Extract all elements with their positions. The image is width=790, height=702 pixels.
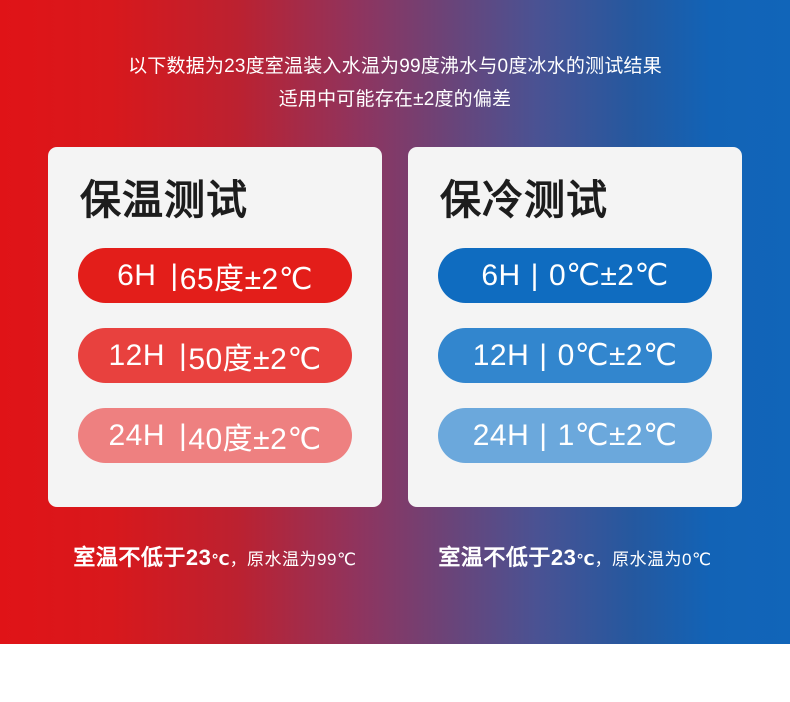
card-title-cold: 保冷测试 [440,172,712,228]
footer-note-cold: 室温不低于23℃，原水温为0℃ [408,540,742,572]
pill-list-heat: 6H | 65度±2℃ 12H | 50度±2℃ 24H | 40度±2℃ [78,248,352,463]
footer-notes-row: 室温不低于23℃，原水温为99℃ 室温不低于23℃，原水温为0℃ [48,540,742,572]
pill-value: 0℃±2℃ [558,338,678,373]
pill-value: 40度±2℃ [188,414,321,458]
pill-hours: 24H [473,419,530,453]
pill-hours: 24H [108,419,165,453]
pill-hours: 6H [117,259,156,293]
footer-strong: 室温不低于23 [73,545,211,570]
pill-separator: | [179,339,187,373]
pill-separator: | [179,419,187,453]
footer-rest: ，原水温为99℃ [230,550,357,569]
pill-heat-6h: 6H | 65度±2℃ [78,248,352,303]
headline-line-2: 适用中可能存在±2度的偏差 [0,83,790,116]
pill-cold-12h: 12H | 0℃±2℃ [438,328,712,383]
pill-cold-24h: 24H | 1℃±2℃ [438,408,712,463]
pill-separator: | [170,259,178,293]
pill-value: 0℃±2℃ [549,258,669,293]
pill-cold-6h: 6H | 0℃±2℃ [438,248,712,303]
pill-heat-24h: 24H | 40度±2℃ [78,408,352,463]
footer-strong: 室温不低于23 [438,545,576,570]
card-cold-retention: 保冷测试 6H | 0℃±2℃ 12H | 0℃±2℃ 24H | 1℃±2℃ [408,147,742,507]
pill-hours: 12H [108,339,165,373]
pill-value: 1℃±2℃ [558,418,678,453]
footer-unit: ℃ [211,552,229,569]
pill-separator: | [531,259,539,293]
pill-value: 50度±2℃ [188,334,321,378]
promo-banner: 以下数据为23度室温装入水温为99度沸水与0度冰水的测试结果 适用中可能存在±2… [0,0,790,644]
card-heat-retention: 保温测试 6H | 65度±2℃ 12H | 50度±2℃ 24H | 40度±… [48,147,382,507]
footer-unit: ℃ [576,552,594,569]
card-title-heat: 保温测试 [80,172,352,228]
pill-list-cold: 6H | 0℃±2℃ 12H | 0℃±2℃ 24H | 1℃±2℃ [438,248,712,463]
pill-separator: | [539,339,547,373]
footer-rest: ，原水温为0℃ [595,550,712,569]
pill-hours: 6H [481,259,520,293]
pill-heat-12h: 12H | 50度±2℃ [78,328,352,383]
test-cards-row: 保温测试 6H | 65度±2℃ 12H | 50度±2℃ 24H | 40度±… [48,147,742,507]
footer-note-heat: 室温不低于23℃，原水温为99℃ [48,540,382,572]
headline-block: 以下数据为23度室温装入水温为99度沸水与0度冰水的测试结果 适用中可能存在±2… [0,50,790,116]
pill-hours: 12H [473,339,530,373]
headline-line-1: 以下数据为23度室温装入水温为99度沸水与0度冰水的测试结果 [0,50,790,83]
pill-separator: | [539,419,547,453]
pill-value: 65度±2℃ [180,254,313,298]
